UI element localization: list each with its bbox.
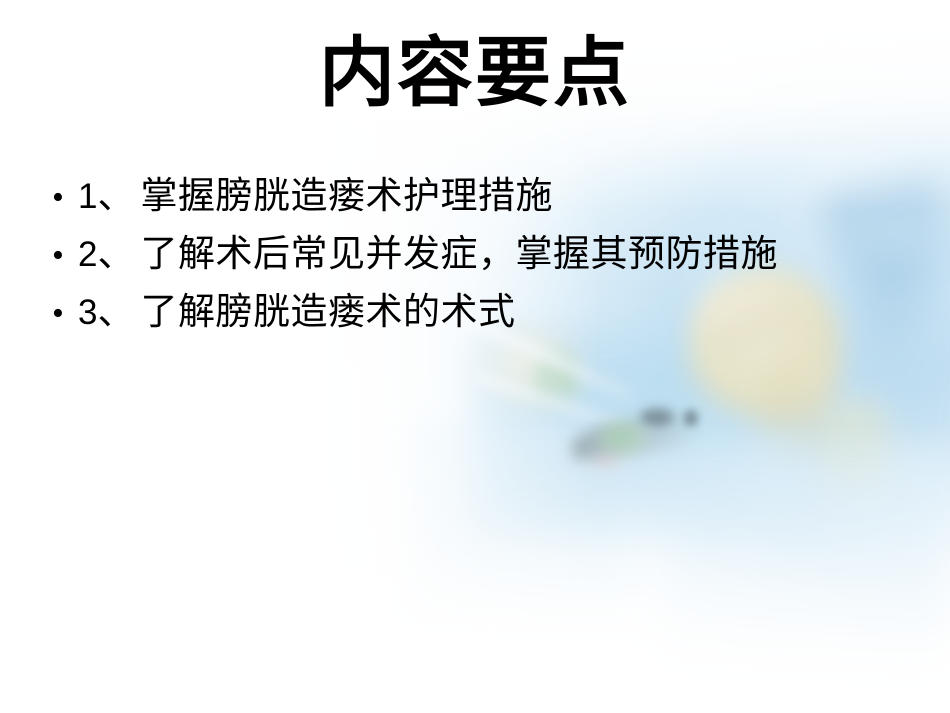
- surgical-instrument-shaft-secondary: [473, 372, 627, 431]
- list-item-text: 了解术后常见并发症，掌握其预防措施: [140, 226, 778, 284]
- gloved-hand-far-right: [820, 400, 890, 510]
- surgical-drape-lower-right: [660, 450, 950, 680]
- slide-title: 内容要点: [0, 36, 950, 112]
- list-item-separator: 、: [97, 284, 140, 342]
- list-item: • 2 、 了解术后常见并发症，掌握其预防措施: [52, 226, 938, 284]
- list-item-number: 2: [78, 226, 97, 284]
- surgical-instrument-dark: [568, 410, 702, 464]
- slide-canvas: 内容要点 • 1 、 掌握膀胱造瘘术护理措施 • 2 、 了解术后常见并发症，掌…: [0, 0, 950, 713]
- glove-cuff: [754, 347, 839, 468]
- bullet-point-icon: •: [52, 285, 78, 343]
- list-item: • 1 、 掌握膀胱造瘘术护理措施: [52, 168, 938, 226]
- list-item-number: 3: [78, 284, 97, 342]
- surgical-drape-lower-left: [400, 420, 650, 620]
- green-drape-accent: [534, 352, 578, 410]
- green-specimen-accent: [596, 420, 648, 456]
- list-item-separator: 、: [97, 168, 140, 226]
- list-item-separator: 、: [97, 226, 140, 284]
- list-item-number: 1: [78, 168, 97, 226]
- surgical-drape-center: [470, 330, 800, 540]
- tissue-accent: [586, 452, 626, 472]
- surgical-instrument-detail: [684, 410, 698, 426]
- bullet-point-icon: •: [52, 227, 78, 285]
- list-item-text: 掌握膀胱造瘘术护理措施: [140, 168, 553, 226]
- background-fade-bottom: [0, 423, 950, 713]
- list-item: • 3 、 了解膀胱造瘘术的术式: [52, 284, 938, 342]
- list-item-text: 了解膀胱造瘘术的术式: [140, 284, 515, 342]
- surgical-instrument-tip: [640, 408, 674, 426]
- bullet-point-icon: •: [52, 169, 78, 227]
- bullet-list: • 1 、 掌握膀胱造瘘术护理措施 • 2 、 了解术后常见并发症，掌握其预防措…: [52, 168, 938, 342]
